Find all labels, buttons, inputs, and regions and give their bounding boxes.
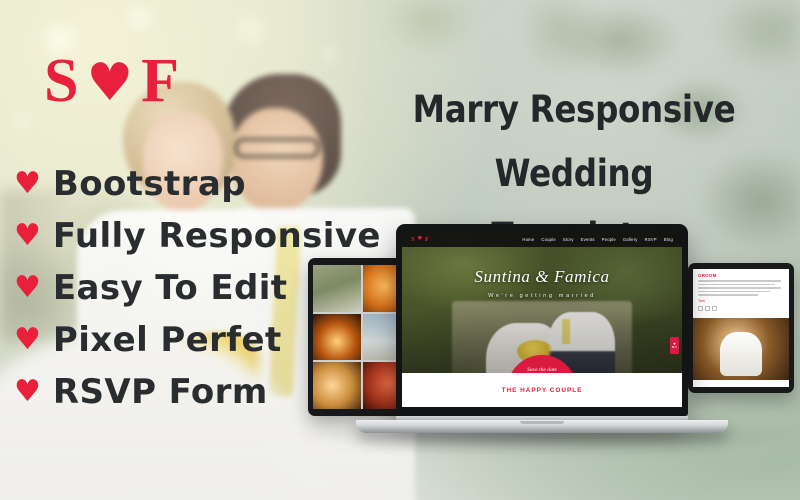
gallery-photo-3: [313, 314, 361, 361]
hero-subtitle: We're getting married: [402, 293, 682, 299]
gallery-photo-5: [313, 362, 361, 409]
text-line: [698, 291, 770, 293]
nav-item-home[interactable]: Home: [522, 237, 534, 242]
nav-item-people[interactable]: People: [602, 237, 616, 242]
bride-photo: [693, 318, 789, 380]
nav-item-rsvp[interactable]: RSVP: [645, 237, 657, 242]
promo-banner: S ♥ F Marry Responsive Wedding Template …: [0, 0, 800, 500]
heart-icon: ♥: [417, 236, 423, 242]
nav-item-gallery[interactable]: Gallery: [623, 237, 638, 242]
groom-signature: Tom: [698, 299, 784, 303]
site-navbar: S ♥ F Home Couple Story Events People Ga…: [402, 231, 682, 247]
text-line: [698, 280, 781, 282]
twitter-icon[interactable]: [705, 306, 710, 311]
site-logo[interactable]: S ♥ F: [411, 236, 430, 243]
instagram-icon[interactable]: [712, 306, 717, 311]
site-nav-menu: Home Couple Story Events People Gallery …: [522, 237, 673, 242]
laptop-lid: S ♥ F Home Couple Story Events People Ga…: [396, 224, 688, 416]
facebook-icon[interactable]: [698, 306, 703, 311]
device-mockups: GROOM Tom: [0, 0, 800, 500]
gallery-photo-1: [313, 265, 361, 312]
happy-couple-section: THE HAPPY COUPLE: [402, 373, 682, 407]
laptop-base: [356, 420, 728, 433]
nav-item-couple[interactable]: Couple: [541, 237, 555, 242]
nav-item-story[interactable]: Story: [563, 237, 574, 242]
text-line: [698, 287, 781, 289]
site-logo-letter-left: S: [411, 236, 416, 243]
nav-item-blog[interactable]: Blog: [664, 237, 673, 242]
couple-names: Suntina & Famica: [402, 267, 682, 287]
nav-item-events[interactable]: Events: [581, 237, 595, 242]
laptop-mockup: S ♥ F Home Couple Story Events People Ga…: [396, 224, 688, 433]
groom-page: GROOM Tom: [693, 269, 789, 387]
section-title: THE HAPPY COUPLE: [502, 387, 583, 394]
text-line: [698, 294, 758, 296]
buy-side-tab[interactable]: ♥ BUY: [670, 337, 679, 354]
groom-section-title: GROOM: [698, 273, 784, 278]
text-line: [698, 284, 775, 286]
social-links: [698, 306, 784, 311]
site-logo-letter-right: F: [425, 236, 430, 243]
laptop-screen: S ♥ F Home Couple Story Events People Ga…: [402, 231, 682, 407]
tablet-groom-mockup: GROOM Tom: [688, 263, 794, 393]
buy-label: BUY: [672, 347, 677, 350]
